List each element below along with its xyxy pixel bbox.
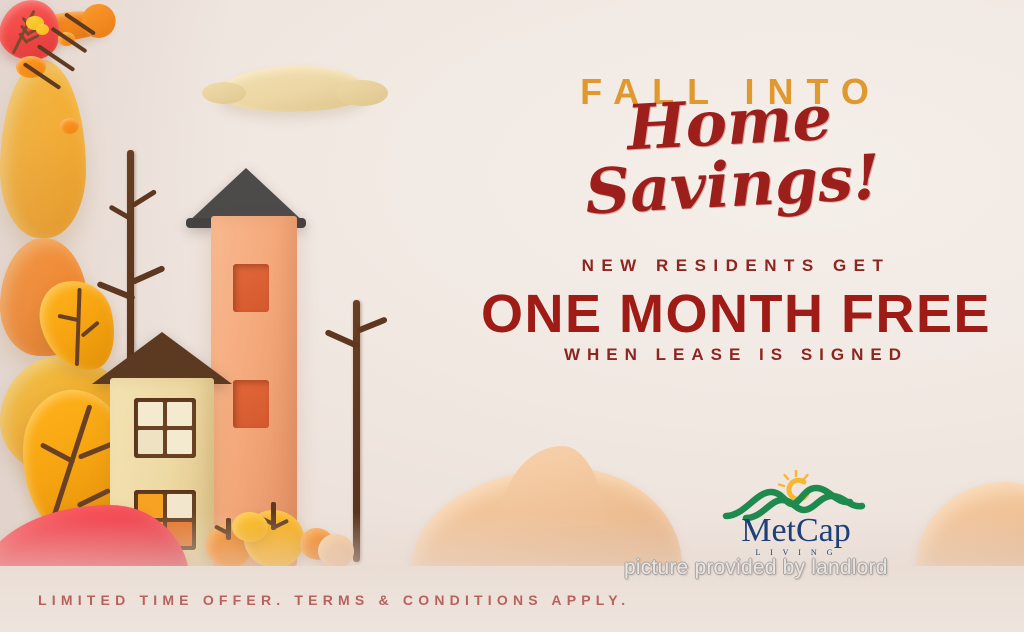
tall-house-window-lower (233, 380, 269, 428)
metcap-logo: MetCap L I V I N G (716, 470, 876, 562)
short-house-roof (92, 332, 232, 384)
promo-banner: FALL INTO Home Savings! NEW RESIDENTS GE… (0, 0, 1024, 632)
cream-cloud-blob-icon (218, 66, 368, 112)
metcap-wordmark: MetCap (716, 514, 876, 548)
headline-home-savings: Home Savings! (493, 80, 969, 228)
short-house-window-upper (134, 398, 196, 458)
tall-house-window-upper (233, 264, 269, 312)
offer-subline: WHEN LEASE IS SIGNED (486, 345, 986, 365)
offer-headline: ONE MONTH FREE (454, 286, 1018, 343)
disclaimer-text: LIMITED TIME OFFER. TERMS & CONDITIONS A… (38, 592, 630, 608)
orange-tree-branch-right (356, 316, 388, 334)
offer-eyebrow: NEW RESIDENTS GET (486, 256, 986, 276)
watermark-text: picture provided by landlord (624, 556, 888, 580)
